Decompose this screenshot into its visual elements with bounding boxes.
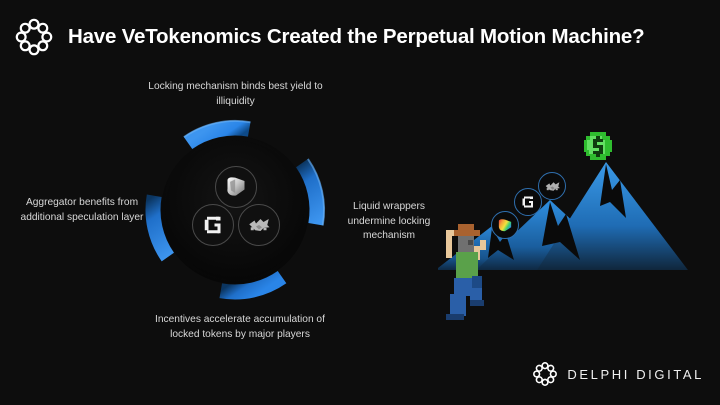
convex-c-icon bbox=[518, 192, 538, 212]
dragon-icon bbox=[244, 210, 274, 240]
callout-top: Locking mechanism binds best yield to il… bbox=[148, 80, 323, 109]
convex-c-icon bbox=[198, 210, 228, 240]
peak-icon-convex[interactable] bbox=[514, 188, 542, 216]
curve-rainbow-icon bbox=[495, 215, 515, 235]
page-title: Have VeTokenomics Created the Perpetual … bbox=[68, 25, 644, 49]
token-badge-curve[interactable] bbox=[215, 166, 257, 208]
dragon-icon bbox=[542, 176, 563, 197]
delphi-ring-logo bbox=[532, 361, 558, 387]
callout-right: Liquid wrappers undermine locking mechan… bbox=[330, 200, 448, 244]
token-badge-convex[interactable] bbox=[192, 204, 234, 246]
footer-brand: DELPHI DIGITAL bbox=[532, 361, 704, 387]
slide-canvas: Have VeTokenomics Created the Perpetual … bbox=[0, 0, 720, 405]
footer-wordmark: DELPHI DIGITAL bbox=[567, 367, 704, 382]
callout-bottom: Incentives accelerate accumulation of lo… bbox=[150, 313, 330, 342]
dollar-coin-icon bbox=[580, 128, 616, 164]
peak-icon-curve[interactable] bbox=[491, 211, 519, 239]
callout-left: Aggregator benefits from additional spec… bbox=[14, 196, 150, 225]
delphi-ring-logo bbox=[14, 17, 54, 57]
token-icon-cluster bbox=[137, 112, 333, 308]
token-badge-redacted[interactable] bbox=[238, 204, 280, 246]
curve-logo-icon bbox=[219, 170, 253, 204]
slide-header: Have VeTokenomics Created the Perpetual … bbox=[14, 17, 644, 57]
peak-icon-redacted[interactable] bbox=[538, 172, 566, 200]
mountain-climb-illustration bbox=[432, 118, 704, 363]
